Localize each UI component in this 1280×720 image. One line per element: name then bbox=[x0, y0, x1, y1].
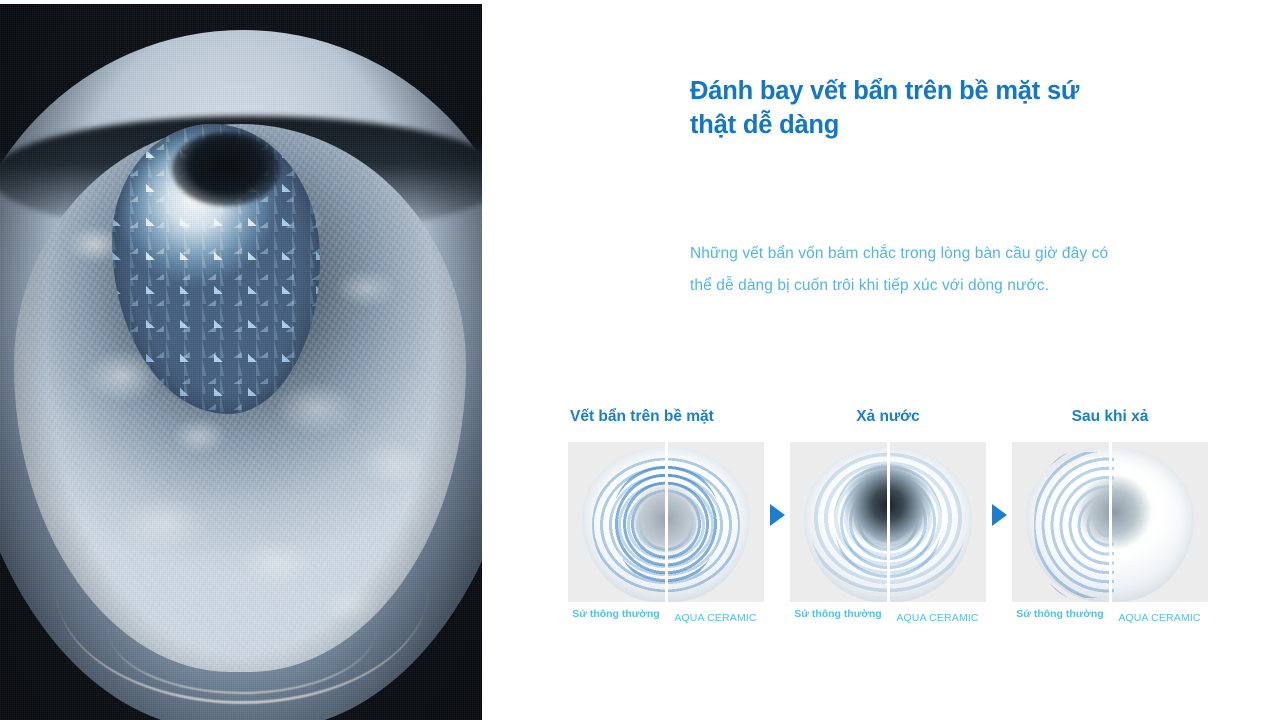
panel-captions: Sứ thông thường AQUA CERAMIC bbox=[1012, 608, 1208, 642]
panel-captions: Sứ thông thường AQUA CERAMIC bbox=[568, 608, 764, 642]
panel-image-stained bbox=[568, 442, 764, 602]
waterline-arc-inner bbox=[108, 564, 376, 694]
page-headline: Đánh bay vết bẩn trên bề mặt sứ thật dễ … bbox=[690, 74, 1120, 142]
caption-standard-ceramic: Sứ thông thường bbox=[568, 608, 664, 621]
panel-split-divider bbox=[665, 442, 668, 602]
caption-standard-ceramic: Sứ thông thường bbox=[1012, 608, 1108, 621]
caption-aqua-ceramic: AQUA CERAMIC bbox=[667, 612, 764, 624]
comparison-strip: Vết bẩn trên bề mặt Sứ thông thường AQUA… bbox=[556, 408, 1256, 648]
caption-aqua-ceramic: AQUA CERAMIC bbox=[889, 612, 986, 624]
hero-photo bbox=[0, 4, 482, 720]
panel-title: Xả nước bbox=[790, 408, 986, 430]
content-column: Đánh bay vết bẩn trên bề mặt sứ thật dễ … bbox=[482, 0, 1280, 720]
panel-title: Vết bẩn trên bề mặt bbox=[568, 408, 764, 430]
caption-standard-ceramic: Sứ thông thường bbox=[790, 608, 886, 621]
drain-hole bbox=[172, 132, 280, 206]
comparison-panel-stained: Vết bẩn trên bề mặt Sứ thông thường AQUA… bbox=[568, 408, 764, 642]
comparison-panel-after: Sau khi xả Sứ thông thường AQUA CERAMIC bbox=[1012, 408, 1208, 642]
arrow-right-icon bbox=[992, 504, 1007, 526]
panel-title: Sau khi xả bbox=[1012, 408, 1208, 430]
panel-captions: Sứ thông thường AQUA CERAMIC bbox=[790, 608, 986, 642]
panel-split-divider bbox=[887, 442, 890, 602]
panel-split-divider bbox=[1109, 442, 1112, 602]
panel-image-after bbox=[1012, 442, 1208, 602]
body-paragraph: Những vết bẩn vốn bám chắc trong lòng bà… bbox=[690, 238, 1110, 302]
arrow-right-icon bbox=[770, 504, 785, 526]
comparison-panel-flushing: Xả nước Sứ thông thường AQUA CERAMIC bbox=[790, 408, 986, 642]
caption-aqua-ceramic: AQUA CERAMIC bbox=[1111, 612, 1208, 624]
panel-image-flushing bbox=[790, 442, 986, 602]
